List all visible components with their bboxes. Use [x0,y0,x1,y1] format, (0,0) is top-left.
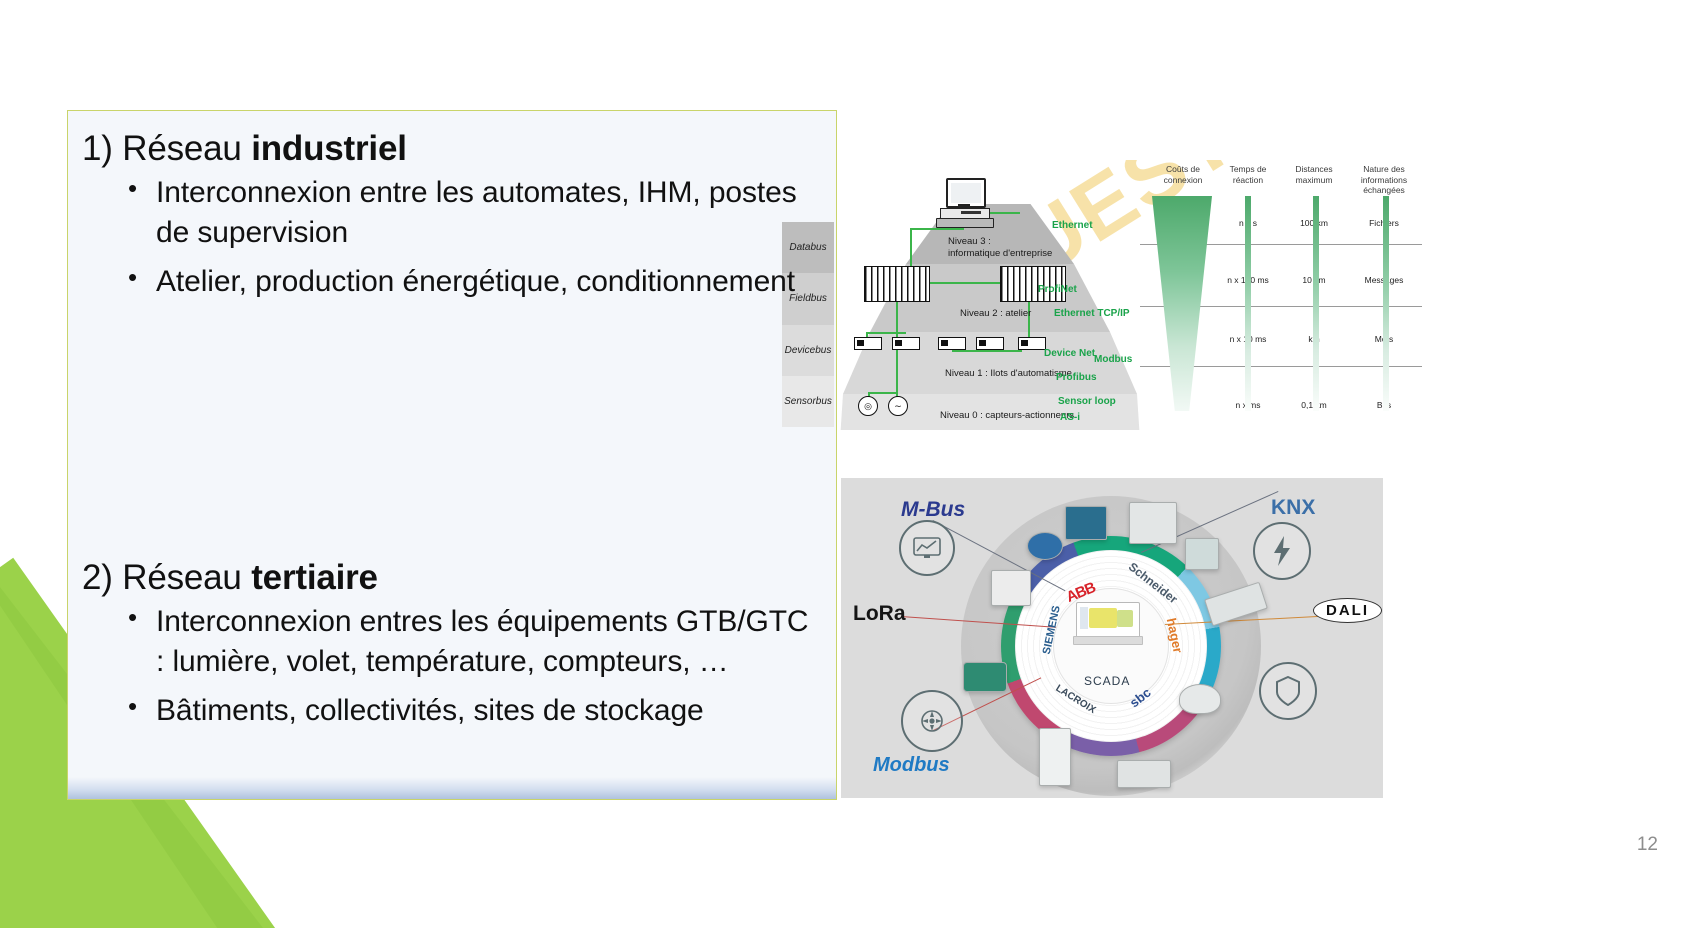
electricity-bolt-icon [1253,522,1311,580]
protocol-label-ethernet: Ethernet [1052,220,1093,231]
content-spacer [82,312,814,528]
electric-meter-device [991,570,1031,606]
io-module-icon [1018,337,1046,350]
pyramid-level-3-label: Niveau 3 : informatique d'entreprise [948,236,1052,260]
io-module-icon [976,337,1004,350]
cost-header-line-2: connexion [1148,175,1218,186]
plc-rack-icon [864,266,930,302]
io-module-icon [938,337,966,350]
column-header-cost: Coûts de connexion [1148,164,1218,185]
hvac-fan-icon [901,690,963,752]
slide-canvas: 1) Réseau industriel Interconnexion entr… [0,0,1700,928]
content-panel: 1) Réseau industriel Interconnexion entr… [67,110,837,800]
reaction-gradient-indicator [1245,196,1251,411]
section-2-bullet-list: Interconnexion entres les équipements GT… [128,602,814,731]
protocol-label-knx: KNX [1271,496,1315,520]
list-item: Interconnexion entre les automates, IHM,… [128,173,814,252]
network-wire [866,332,906,334]
protocol-label-profinet: ProfiNet [1038,284,1077,295]
section-1-heading-strong: industriel [251,129,407,168]
page-number: 12 [1637,834,1658,856]
blind-shutter-device [1129,502,1177,544]
nature-header-line-3: échangées [1348,185,1420,196]
section-2-heading: 2) Réseau tertiaire [82,558,814,598]
section-1-heading-prefix: 1) Réseau [82,129,251,168]
network-wire [1028,300,1030,340]
scada-label: SCADA [1084,674,1130,688]
section-1-heading: 1) Réseau industriel [82,129,814,169]
security-shield-icon [1259,662,1317,720]
io-module-icon [892,337,920,350]
dist-header-line-2: maximum [1283,175,1345,186]
column-header-reaction-time: Temps de réaction [1214,164,1282,185]
protocol-label-devicenet: Device Net [1044,348,1095,359]
shield-glyph [1275,676,1301,706]
level-3-line-1: Niveau 3 : [948,236,1052,248]
nature-gradient-indicator [1383,196,1389,411]
cabinet-device [1039,728,1071,786]
industrial-network-pyramid-figure: Databus Fieldbus Devicebus Sensorbus UES… [782,160,1422,430]
pyramid-level-1-label: Niveau 1 : Ilots d'automatisme [945,368,1072,380]
controller-device [1117,760,1171,788]
cost-gradient-indicator [1152,196,1212,411]
protocol-label-profibus: Profibus [1056,372,1097,383]
list-item: Bâtiments, collectivités, sites de stock… [128,691,814,731]
nature-header-line-1: Nature des [1348,164,1420,175]
list-item: Interconnexion entres les équipements GT… [128,602,814,681]
keyboard-icon [936,218,994,228]
network-wire [928,282,1000,284]
chart-glyph [913,537,941,559]
protocol-label-asi: AS-i [1060,412,1080,423]
pump-device [963,662,1007,692]
distance-gradient-indicator [1313,196,1319,411]
nature-header-line-2: informations [1348,175,1420,186]
energy-chart-icon [899,520,955,576]
section-1-bullet-list: Interconnexion entre les automates, IHM,… [128,173,814,302]
dist-header-line-1: Distances [1283,164,1345,175]
section-2-heading-prefix: 2) Réseau [82,558,251,597]
protocol-label-ethernet-tcpip: Ethernet TCP/IP [1054,308,1130,319]
comparison-table: Coûts de connexion Temps de réaction Dis… [1140,160,1422,430]
network-wire [952,350,1022,352]
scada-laptop-icon [1073,602,1141,646]
water-meter-device [1027,532,1063,560]
fan-glyph [915,704,949,738]
pyramid-plate: UEST [840,160,1422,430]
column-header-nature: Nature des informations échangées [1348,164,1420,196]
pyramid-level-2-label: Niveau 2 : atelier [960,308,1031,320]
laptop-screen [1076,602,1140,638]
actuator-icon: ∼ [888,396,908,416]
network-wire [868,392,898,394]
building-automation-wheel-figure: ABB Schneider hager sbc LACROIX SIEMENS … [841,478,1383,798]
level-3-line-2: informatique d'entreprise [948,248,1052,260]
sensor-icon: ◎ [858,396,878,416]
time-header-line-2: réaction [1214,175,1282,186]
laptop-keyboard [1073,636,1143,645]
pyramid-level-0-label: Niveau 0 : capteurs-actionneurs [940,410,1074,422]
io-module-icon [854,337,882,350]
bolt-glyph [1271,535,1293,567]
time-header-line-1: Temps de [1214,164,1282,175]
protocol-label-sensorloop: Sensor loop [1058,396,1116,407]
hmi-panel-device [1065,506,1107,540]
protocol-label-mbus: M-Bus [901,498,965,522]
cost-header-line-1: Coûts de [1148,164,1218,175]
computer-icon [936,178,992,230]
column-header-distance: Distances maximum [1283,164,1345,185]
dome-camera-device [1179,684,1221,714]
list-item: Atelier, production énergétique, conditi… [128,262,814,302]
section-2-heading-strong: tertiaire [251,558,378,597]
protocol-label-modbus: Modbus [873,754,950,777]
protocol-label-modbus: Modbus [1094,354,1132,365]
thermostat-device [1185,538,1219,570]
protocol-label-lora: LoRa [853,602,906,626]
protocol-label-dali: DALI [1313,598,1382,623]
